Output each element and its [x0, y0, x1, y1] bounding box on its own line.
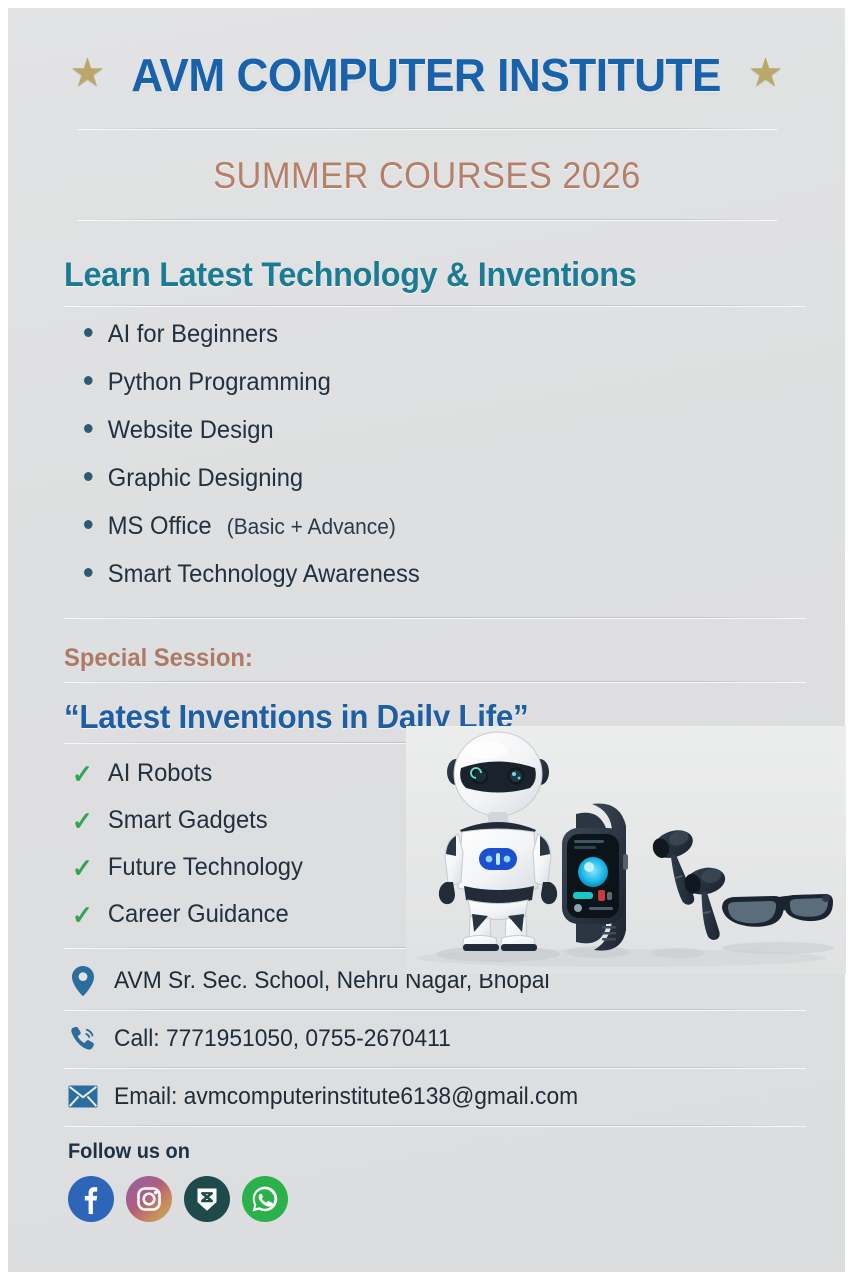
list-item: Graphic Designing [84, 464, 754, 493]
special-item-label: Future Technology [108, 853, 303, 882]
contact-email-row: Email: avmcomputerinstitute6138@gmail.co… [64, 1068, 789, 1125]
product-image [406, 726, 846, 974]
envelope-icon [68, 1085, 98, 1108]
special-session-list: ✓ AI Robots ✓ Smart Gadgets ✓ Future Tec… [64, 759, 412, 929]
special-item-label: Smart Gadgets [108, 806, 268, 835]
special-session-label: Special Session: [64, 644, 753, 673]
instagram-icon[interactable] [126, 1176, 172, 1222]
phone-text: Call: 7771951050, 0755-2670411 [114, 1025, 451, 1053]
divider [64, 1125, 806, 1126]
follow-label: Follow us on [68, 1140, 753, 1164]
poster-canvas: ★ AVM COMPUTER INSTITUTE ★ SUMMER COURSE… [8, 8, 845, 1272]
star-icon: ★ [748, 53, 784, 93]
bullet-icon [84, 520, 93, 529]
star-icon: ★ [70, 53, 106, 93]
social-links [68, 1176, 789, 1222]
list-item: Smart Technology Awareness [84, 560, 754, 589]
list-item: ✓ AI Robots [72, 759, 395, 788]
list-item: ✓ Career Guidance [72, 900, 395, 929]
course-label: MS Office [108, 512, 212, 541]
phone-icon [68, 1025, 98, 1053]
bullet-icon [84, 424, 93, 433]
bullet-icon [84, 376, 93, 385]
whatsapp-icon[interactable] [242, 1176, 288, 1222]
list-item: Website Design [84, 416, 754, 445]
special-item-label: Career Guidance [108, 900, 289, 929]
divider [77, 128, 777, 129]
list-item: ✓ Smart Gadgets [72, 806, 395, 835]
facebook-icon[interactable] [68, 1176, 114, 1222]
checkmark-icon: ✓ [72, 808, 93, 834]
list-item: Python Programming [84, 368, 754, 397]
divider [64, 617, 806, 618]
special-item-label: AI Robots [108, 759, 212, 788]
course-sublabel: (Basic + Advance) [227, 514, 396, 540]
courses-list: AI for Beginners Python Programming Webs… [64, 320, 789, 589]
bullet-icon [84, 328, 93, 337]
list-item: MS Office (Basic + Advance) [84, 512, 754, 541]
location-pin-icon [68, 966, 98, 996]
course-label: Python Programming [108, 368, 331, 397]
checkmark-icon: ✓ [72, 855, 93, 881]
contact-section: AVM Sr. Sec. School, Nehru Nagar, Bhopal… [64, 952, 789, 1126]
divider [77, 219, 777, 220]
checkmark-icon: ✓ [72, 902, 93, 928]
title-row: ★ AVM COMPUTER INSTITUTE ★ [8, 48, 845, 102]
divider [64, 305, 806, 306]
divider [64, 681, 806, 682]
x-twitter-icon[interactable] [184, 1176, 230, 1222]
course-label: Smart Technology Awareness [108, 560, 420, 589]
poster-header: ★ AVM COMPUTER INSTITUTE ★ SUMMER COURSE… [8, 8, 845, 220]
contact-phone-row: Call: 7771951050, 0755-2670411 [64, 1010, 789, 1067]
course-label: Website Design [108, 416, 274, 445]
list-item: AI for Beginners [84, 320, 754, 349]
poster-subtitle: SUMMER COURSES 2026 [213, 155, 641, 197]
bullet-icon [84, 472, 93, 481]
courses-heading: Learn Latest Technology & Inventions [64, 256, 753, 295]
follow-section: Follow us on [64, 1140, 789, 1222]
list-item: ✓ Future Technology [72, 853, 395, 882]
email-text: Email: avmcomputerinstitute6138@gmail.co… [114, 1083, 578, 1111]
course-label: Graphic Designing [108, 464, 303, 493]
bullet-icon [84, 568, 93, 577]
checkmark-icon: ✓ [72, 761, 93, 787]
page-title: AVM COMPUTER INSTITUTE [132, 48, 722, 102]
course-label: AI for Beginners [108, 320, 278, 349]
